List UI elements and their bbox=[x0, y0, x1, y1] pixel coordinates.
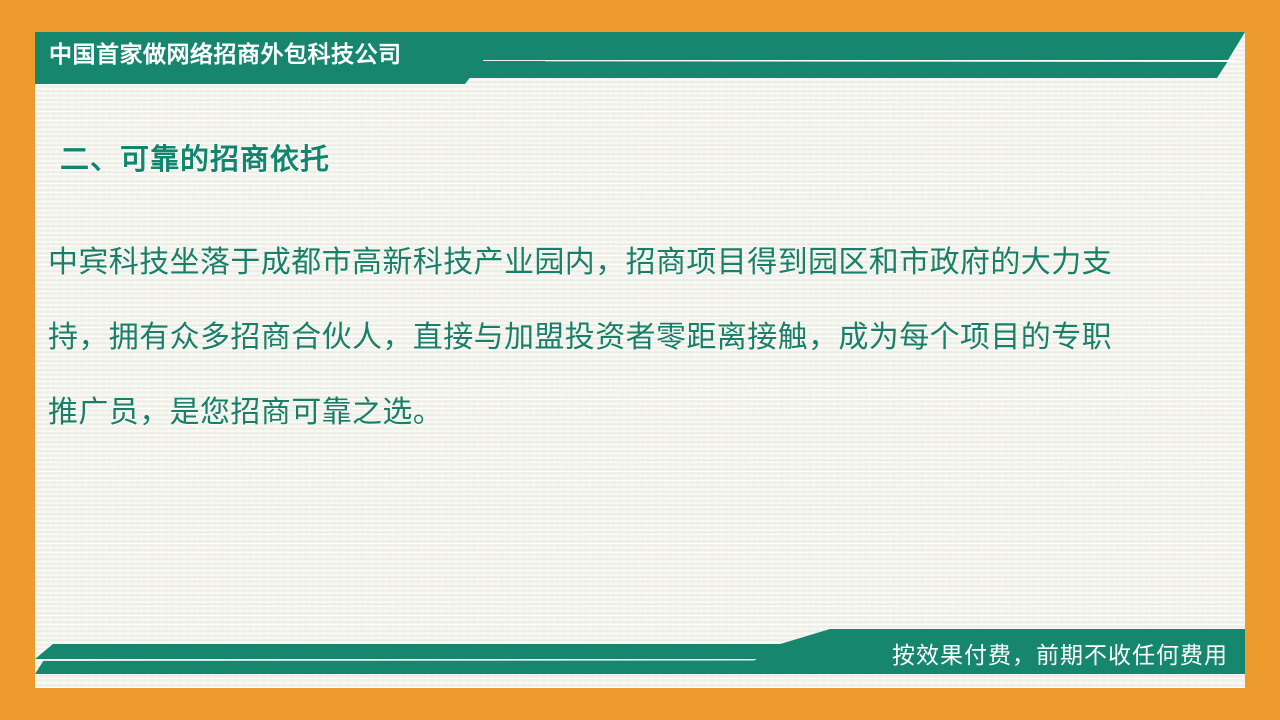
footer-slogan-text: 按效果付费，前期不收任何费用 bbox=[850, 636, 1240, 670]
paragraph-line: 持，拥有众多招商合伙人，直接与加盟投资者零距离接触，成为每个项目的专职 bbox=[48, 300, 1196, 375]
slide-canvas: 中国首家做网络招商外包科技公司 二、可靠的招商依托 中宾科技坐落于成都市高新科技… bbox=[0, 0, 1280, 720]
content-panel: 中国首家做网络招商外包科技公司 二、可靠的招商依托 中宾科技坐落于成都市高新科技… bbox=[35, 32, 1245, 688]
body-paragraph: 中宾科技坐落于成都市高新科技产业园内，招商项目得到园区和市政府的大力支 持，拥有… bbox=[48, 225, 1196, 450]
footer-divider-line bbox=[40, 659, 805, 661]
paragraph-line: 推广员，是您招商可靠之选。 bbox=[48, 375, 1196, 450]
section-heading: 二、可靠的招商依托 bbox=[60, 136, 330, 178]
header-title-text: 中国首家做网络招商外包科技公司 bbox=[49, 37, 479, 71]
footer-strip-lower bbox=[35, 660, 815, 674]
footer-strip-upper bbox=[35, 644, 815, 659]
paragraph-line: 中宾科技坐落于成都市高新科技产业园内，招商项目得到园区和市政府的大力支 bbox=[48, 225, 1196, 300]
header-divider-line bbox=[545, 60, 1235, 62]
footer-band: 按效果付费，前期不收任何费用 bbox=[35, 618, 1245, 688]
